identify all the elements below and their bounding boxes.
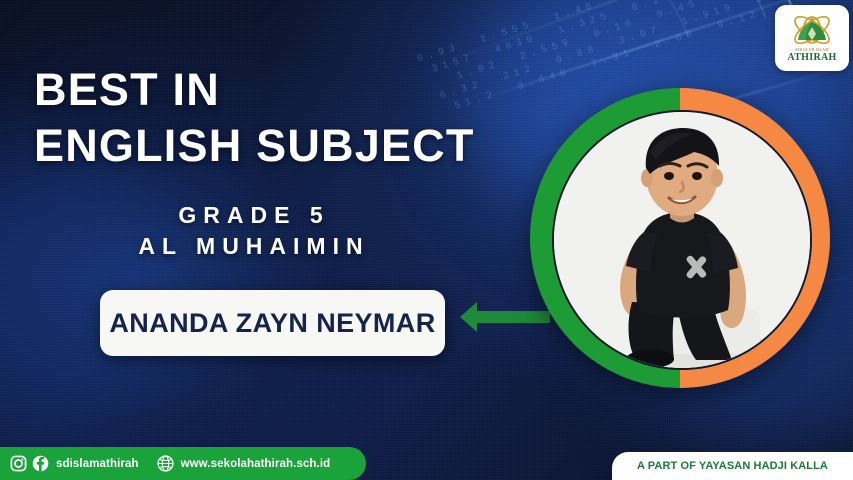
grade-label: GRADE 5 [34, 200, 474, 231]
subtitle-block: GRADE 5 AL MUHAIMIN [34, 200, 474, 262]
student-name: ANANDA ZAYN NEYMAR [109, 308, 435, 339]
student-name-banner: ANANDA ZAYN NEYMAR [100, 290, 445, 356]
school-logo-card: SEKOLAH ISLAM ATHIRAH [775, 5, 849, 71]
globe-icon[interactable] [157, 455, 174, 472]
footer-social-bar: sdislamathirah www.sekolahathirah.sch.id [0, 447, 366, 480]
headline-line-2: ENGLISH SUBJECT [34, 118, 475, 174]
website-url: www.sekolahathirah.sch.id [181, 458, 331, 470]
social-handle-group[interactable]: sdislamathirah [10, 455, 139, 472]
logo-name: ATHIRAH [787, 52, 836, 63]
class-label: AL MUHAIMIN [34, 231, 474, 262]
footer-partner-bar: A PART OF YAYASAN HADJI KALLA [612, 452, 853, 480]
website-group[interactable]: www.sekolahathirah.sch.id [157, 455, 331, 472]
social-handle: sdislamathirah [56, 458, 139, 470]
student-photo [552, 110, 812, 370]
partner-text: A PART OF YAYASAN HADJI KALLA [637, 460, 828, 472]
instagram-icon[interactable] [10, 455, 27, 472]
student-photo-ring [530, 88, 830, 388]
award-poster: 0.93 1.555 1.48 1200 3.600 7.19 148.9 31… [0, 0, 853, 480]
athirah-logo-icon [790, 13, 834, 47]
headline-line-1: BEST IN [34, 62, 475, 118]
page-title: BEST IN ENGLISH SUBJECT [34, 62, 475, 174]
facebook-icon[interactable] [32, 455, 49, 472]
student-portrait-illustration [554, 112, 810, 368]
